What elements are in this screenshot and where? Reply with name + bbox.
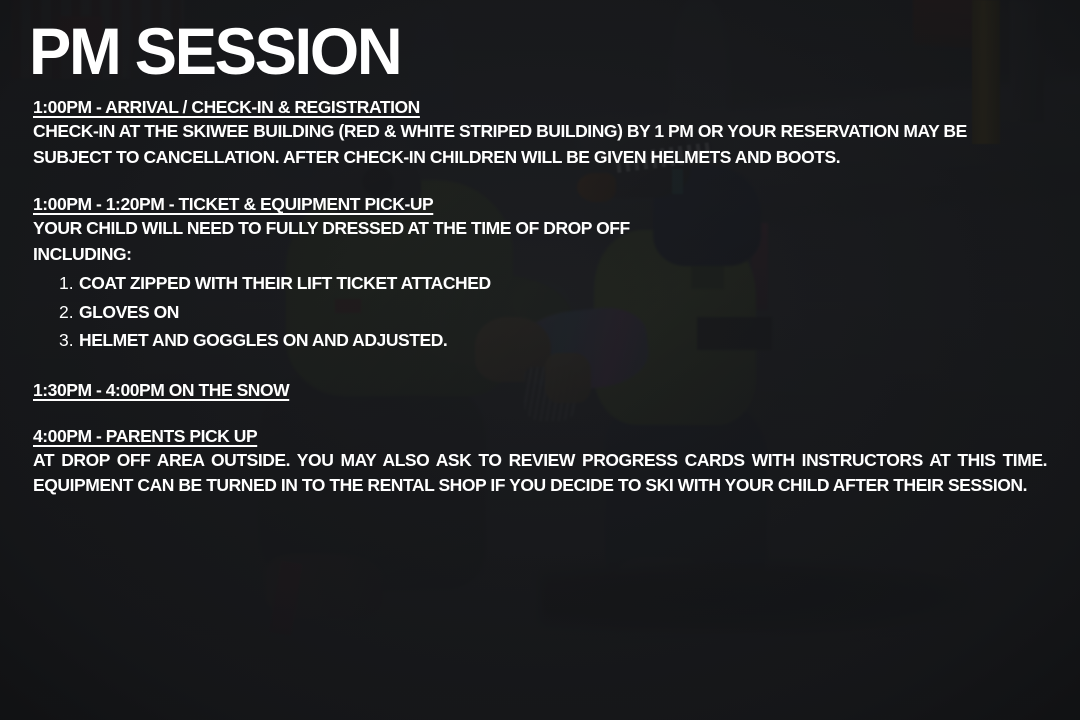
section-gap <box>33 355 1047 378</box>
section-gap <box>33 402 1047 424</box>
dressed-checklist: COAT ZIPPED WITH THEIR LIFT TICKET ATTAC… <box>33 269 1047 355</box>
section-heading-ticket-pickup: 1:00PM - 1:20PM - TICKET & EQUIPMENT PIC… <box>33 192 1047 216</box>
list-item: COAT ZIPPED WITH THEIR LIFT TICKET ATTAC… <box>33 269 1047 298</box>
section-gap <box>33 170 1047 192</box>
section-heading-parents-pick-up: 4:00PM - PARENTS PICK UP <box>33 424 1047 448</box>
list-item: GLOVES ON <box>33 298 1047 327</box>
section-body-parents-pick-up: AT DROP OFF AREA OUTSIDE. YOU MAY ALSO A… <box>33 448 1047 499</box>
pm-session-poster: PM SESSION 1:00PM - ARRIVAL / CHECK-IN &… <box>0 0 1080 720</box>
poster-content: PM SESSION 1:00PM - ARRIVAL / CHECK-IN &… <box>0 0 1080 720</box>
page-title: PM SESSION <box>29 13 1006 89</box>
list-item: HELMET AND GOGGLES ON AND ADJUSTED. <box>33 326 1047 355</box>
section-body-arrival: CHECK-IN AT THE SKIWEE BUILDING (RED & W… <box>33 119 1047 170</box>
section-body-ticket-line2: INCLUDING: <box>33 242 1047 268</box>
section-heading-on-the-snow: 1:30PM - 4:00PM ON THE SNOW <box>33 378 1047 402</box>
section-heading-arrival: 1:00PM - ARRIVAL / CHECK-IN & REGISTRATI… <box>33 95 1047 119</box>
section-body-ticket-line1: YOUR CHILD WILL NEED TO FULLY DRESSED AT… <box>33 216 1047 242</box>
